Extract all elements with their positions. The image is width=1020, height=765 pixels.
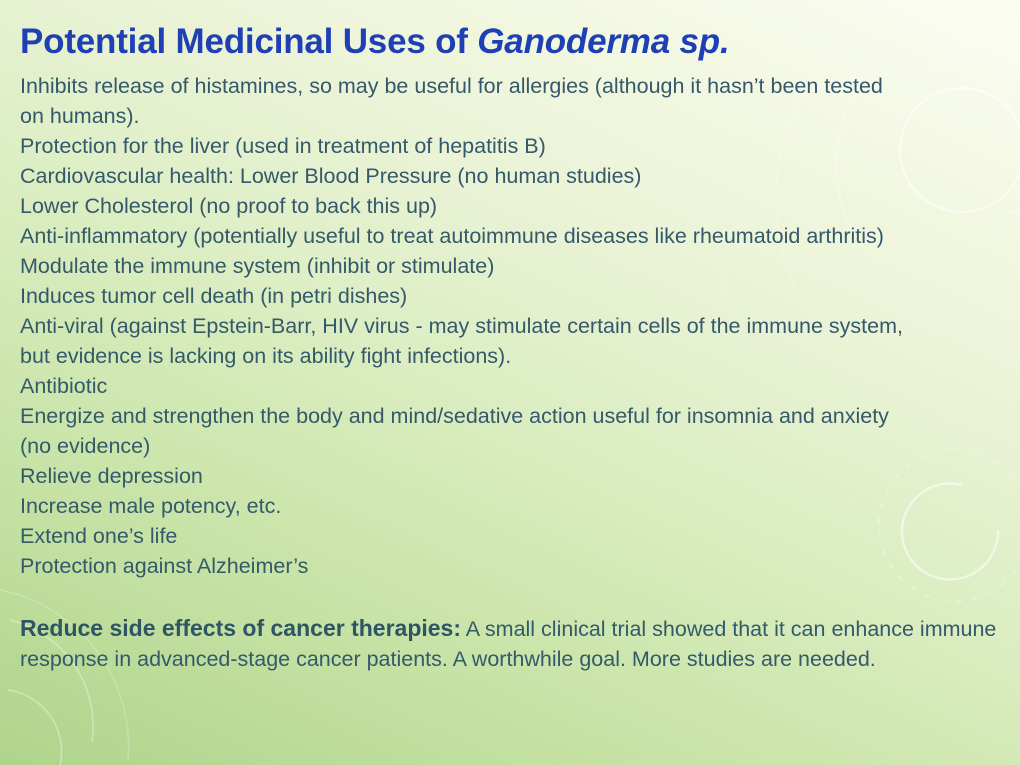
body-text-block: Inhibits release of histamines, so may b… xyxy=(20,71,1000,581)
closing-paragraph: Reduce side effects of cancer therapies:… xyxy=(20,613,1000,674)
body-line: Extend one’s life xyxy=(20,521,1000,551)
slide-content: Potential Medicinal Uses of Ganoderma sp… xyxy=(0,0,1020,674)
body-line: Increase male potency, etc. xyxy=(20,491,1000,521)
body-line: Protection for the liver (used in treatm… xyxy=(20,131,1000,161)
body-line: Lower Cholesterol (no proof to back this… xyxy=(20,191,1000,221)
body-line: Modulate the immune system (inhibit or s… xyxy=(20,251,1000,281)
page-title: Potential Medicinal Uses of Ganoderma sp… xyxy=(20,22,1000,61)
body-line: Protection against Alzheimer’s xyxy=(20,551,1000,581)
presentation-slide: Potential Medicinal Uses of Ganoderma sp… xyxy=(0,0,1020,765)
body-line: (no evidence) xyxy=(20,431,1000,461)
closing-lead-text: Reduce side effects of cancer therapies: xyxy=(20,615,461,641)
body-line: on humans). xyxy=(20,101,1000,131)
body-line: Inhibits release of histamines, so may b… xyxy=(20,71,1000,101)
body-line: but evidence is lacking on its ability f… xyxy=(20,341,1000,371)
body-line: Relieve depression xyxy=(20,461,1000,491)
body-line: Anti-viral (against Epstein-Barr, HIV vi… xyxy=(20,311,1000,341)
title-species-text: Ganoderma sp. xyxy=(477,22,729,61)
body-line: Induces tumor cell death (in petri dishe… xyxy=(20,281,1000,311)
body-line: Antibiotic xyxy=(20,371,1000,401)
body-line: Anti-inflammatory (potentially useful to… xyxy=(20,221,1000,251)
title-main-text: Potential Medicinal Uses of xyxy=(20,22,477,61)
body-line: Cardiovascular health: Lower Blood Press… xyxy=(20,161,1000,191)
body-line: Energize and strengthen the body and min… xyxy=(20,401,1000,431)
